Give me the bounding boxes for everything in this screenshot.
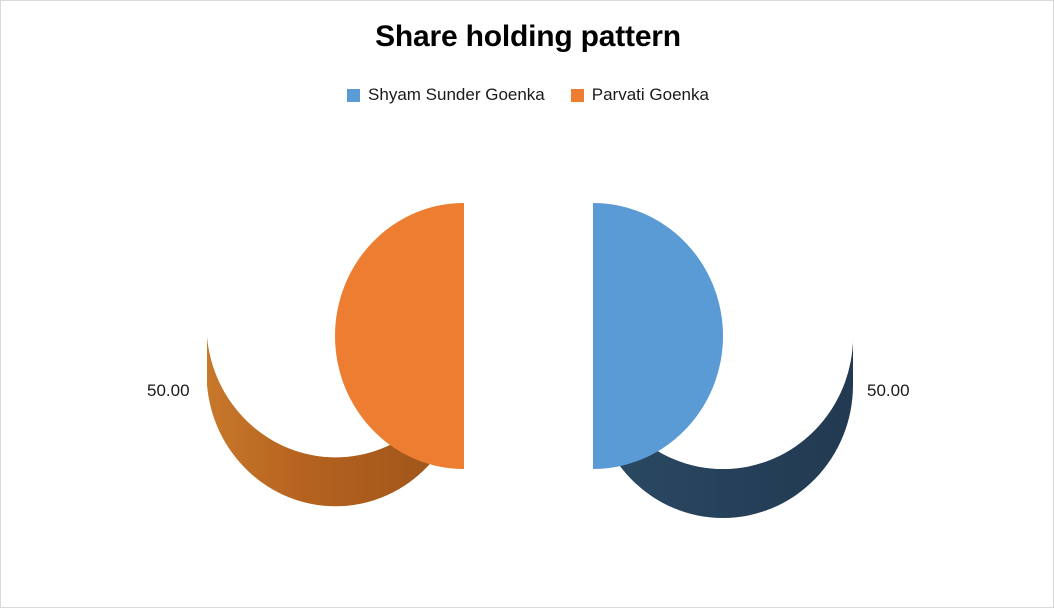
chart-container: Share holding pattern Shyam Sunder Goenk… xyxy=(0,0,1054,608)
pie-chart-graphic xyxy=(1,1,1054,608)
pie-slice-shyam-sunder-goenka[interactable] xyxy=(593,203,853,518)
pie-slice-parvati-goenka[interactable] xyxy=(207,203,464,506)
data-label-shyam-sunder-goenka: 50.00 xyxy=(867,381,910,401)
plot-area: 50.00 50.00 xyxy=(1,1,1054,608)
pie-slice-parvati-top xyxy=(335,203,464,469)
pie-slice-shyam-top xyxy=(593,203,723,469)
data-label-parvati-goenka: 50.00 xyxy=(147,381,190,401)
